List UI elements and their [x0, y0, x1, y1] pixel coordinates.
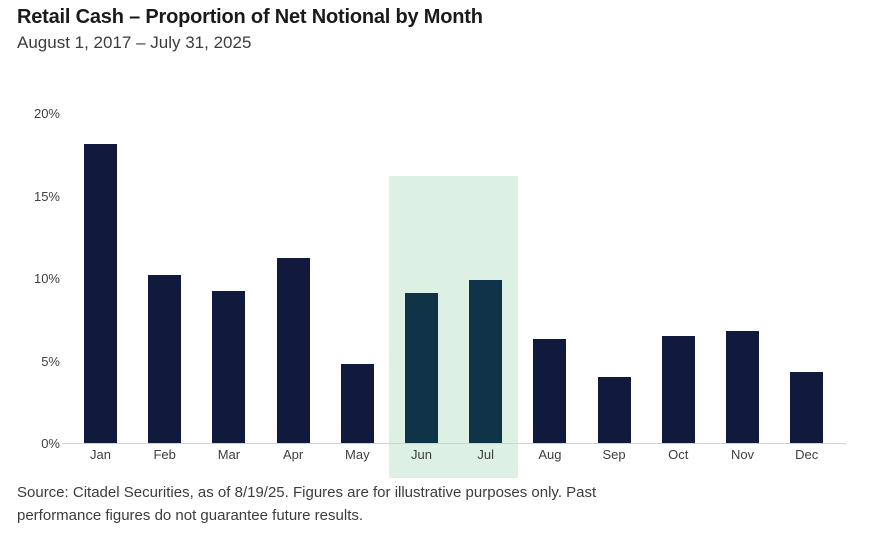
bar-feb[interactable] [148, 275, 181, 443]
bar-sep[interactable] [598, 377, 631, 443]
x-axis-label-apr: Apr [265, 448, 322, 462]
x-axis-label-aug: Aug [521, 448, 578, 462]
x-axis-label-sep: Sep [586, 448, 643, 462]
bar-jun[interactable] [405, 293, 438, 443]
source-line-1: Source: Citadel Securities, as of 8/19/2… [17, 481, 817, 504]
x-axis-label-feb: Feb [136, 448, 193, 462]
bar-mar[interactable] [212, 291, 245, 443]
x-axis-label-mar: Mar [200, 448, 257, 462]
x-axis-label-jul: Jul [457, 448, 514, 462]
bar-aug[interactable] [533, 339, 566, 443]
y-axis-tick-label: 5% [14, 355, 60, 368]
x-axis-label-oct: Oct [650, 448, 707, 462]
bar-apr[interactable] [277, 258, 310, 443]
x-axis-label-jun: Jun [393, 448, 450, 462]
bar-jul[interactable] [469, 280, 502, 443]
bar-nov[interactable] [726, 331, 759, 443]
bar-may[interactable] [341, 364, 374, 443]
y-axis-tick-label: 15% [14, 190, 60, 203]
bar-dec[interactable] [790, 372, 823, 443]
bar-jan[interactable] [84, 144, 117, 443]
bar-chart: 0%5%10%15%20% JanFebMarAprMayJunJulAugSe… [0, 0, 874, 480]
bar-oct[interactable] [662, 336, 695, 443]
y-axis: 0%5%10%15%20% [14, 0, 60, 480]
x-axis-label-nov: Nov [714, 448, 771, 462]
y-axis-tick-label: 0% [14, 437, 60, 450]
y-axis-tick-label: 10% [14, 272, 60, 285]
x-axis-label-jan: Jan [72, 448, 129, 462]
y-axis-tick-label: 20% [14, 107, 60, 120]
source-note: Source: Citadel Securities, as of 8/19/2… [17, 481, 817, 527]
x-axis-label-may: May [329, 448, 386, 462]
x-axis-baseline [62, 443, 846, 444]
x-axis-label-dec: Dec [778, 448, 835, 462]
source-line-2: performance figures do not guarantee fut… [17, 504, 817, 527]
